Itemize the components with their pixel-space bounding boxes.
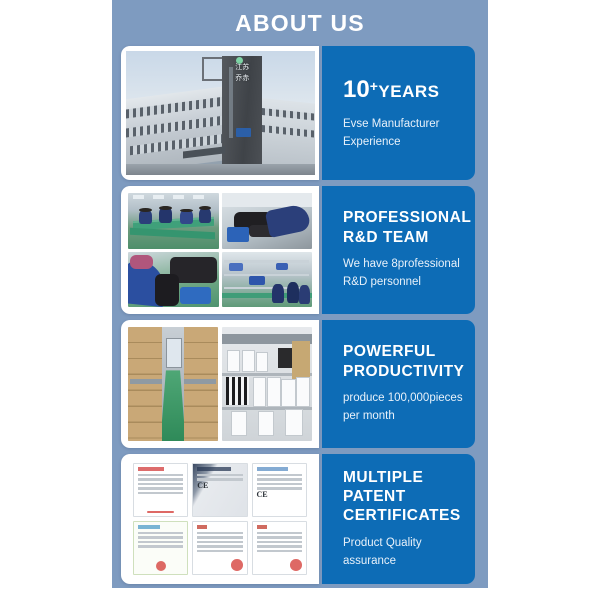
certificate-ce-dark: CE	[192, 463, 247, 517]
section-rnd-team: PROFESSIONAL R&D TEAM We have 8professio…	[121, 186, 475, 314]
warehouse-assembly-photo	[222, 252, 313, 308]
white-boxes-shelves-photo	[222, 327, 312, 441]
years-number: 10	[343, 76, 370, 103]
worker-inspecting-parts-photo	[222, 193, 313, 249]
certificate-patent-seal-2	[252, 521, 307, 575]
info-card-rnd-team: PROFESSIONAL R&D TEAM We have 8professio…	[322, 186, 475, 314]
years-subtitle: Evse Manufacturer Experience	[343, 116, 475, 152]
about-us-page: ABOUT US 江苏乔赤	[0, 0, 600, 600]
info-card-years: 10+YEARS Evse Manufacturer Experience	[322, 46, 475, 180]
certificate-green-border	[133, 521, 188, 575]
section-patents: CE CE	[121, 454, 475, 584]
hands-assembling-photo	[128, 252, 219, 308]
factory-floor-photo	[128, 193, 219, 249]
building-sign-text: 江苏乔赤	[234, 62, 251, 84]
section-productivity: POWERFUL PRODUCTIVITY produce 100,000pie…	[121, 320, 475, 448]
rnd-team-subtitle: We have 8professional R&D personnel	[343, 256, 475, 292]
years-unit: YEARS	[378, 82, 439, 101]
media-card-warehouse	[121, 320, 319, 448]
section-years: 江苏乔赤 10+YEARS Evse Manufacturer Experien…	[121, 46, 475, 180]
info-card-patents: MULTIPLE PATENT CERTIFICATES Product Qua…	[322, 454, 475, 584]
certificate-red-header	[133, 463, 188, 517]
company-building-photo: 江苏乔赤	[126, 51, 315, 175]
media-card-assembly	[121, 186, 319, 314]
rnd-team-title: PROFESSIONAL R&D TEAM	[343, 208, 475, 247]
patents-subtitle: Product Quality assurance	[343, 535, 475, 571]
productivity-subtitle: produce 100,000pieces per month	[343, 390, 475, 426]
ce-mark-label-2: CE	[257, 490, 303, 499]
certificate-patent-seal	[192, 521, 247, 575]
warehouse-aisle-photo	[128, 327, 218, 441]
info-card-productivity: POWERFUL PRODUCTIVITY produce 100,000pie…	[322, 320, 475, 448]
patents-title: MULTIPLE PATENT CERTIFICATES	[343, 468, 475, 526]
certificate-ce-declaration: CE	[252, 463, 307, 517]
media-card-certificates: CE CE	[121, 454, 319, 584]
productivity-title: POWERFUL PRODUCTIVITY	[343, 342, 475, 381]
page-title: ABOUT US	[112, 10, 488, 37]
years-heading: 10+YEARS	[343, 75, 475, 105]
media-card-building: 江苏乔赤	[121, 46, 319, 180]
ce-mark-label: CE	[197, 481, 243, 490]
